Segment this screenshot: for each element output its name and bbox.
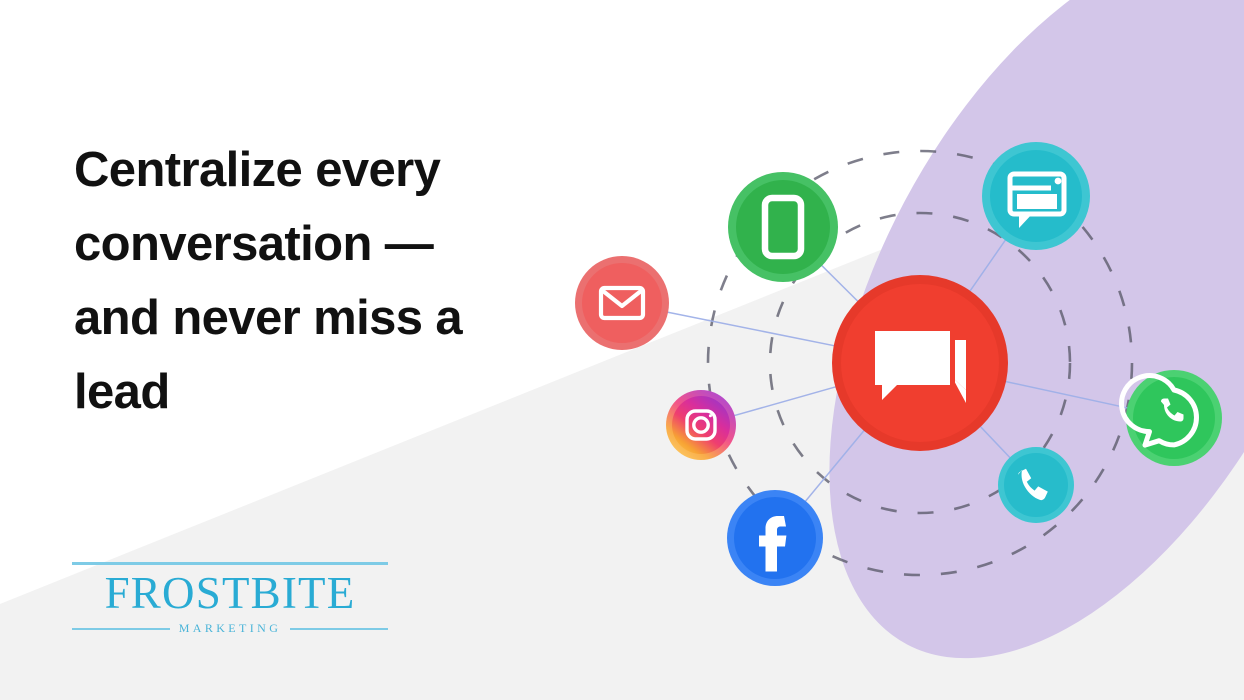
node-hitbox-voice-call[interactable] (998, 447, 1074, 523)
node-hitbox-facebook[interactable] (727, 490, 823, 586)
node-hitbox-sms[interactable] (728, 172, 838, 282)
connector-instagram (731, 385, 841, 416)
node-hitbox-live-chat[interactable] (982, 142, 1090, 250)
node-hitbox-email[interactable] (575, 256, 669, 350)
connector-facebook (803, 426, 868, 504)
connector-email (664, 311, 839, 346)
node-hitbox-instagram[interactable] (666, 390, 736, 460)
connector-sms (819, 263, 862, 305)
node-hitbox-whatsapp[interactable] (1126, 370, 1222, 466)
node-hitbox-chat-hub[interactable] (832, 275, 1008, 451)
connector-live-chat (967, 237, 1008, 296)
connector-voice-call (977, 422, 1013, 460)
channel-network-diagram (0, 0, 1244, 700)
hero-banner: Centralize every conversation — and neve… (0, 0, 1244, 700)
connector-whatsapp (1000, 380, 1131, 408)
